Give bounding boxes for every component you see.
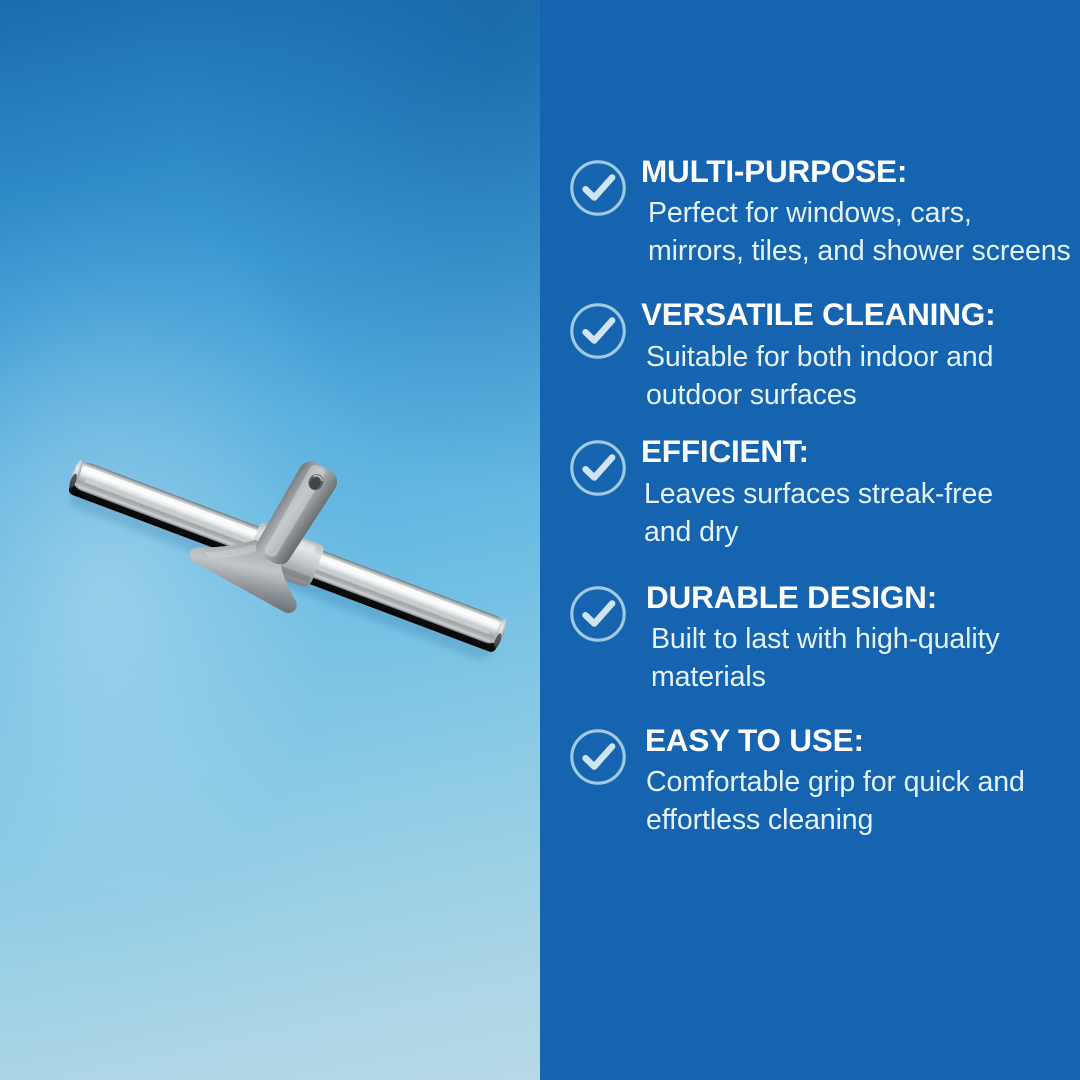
feature-text: DURABLE DESIGN: Built to last with high-… bbox=[641, 578, 1080, 697]
feature-title: EASY TO USE: bbox=[645, 721, 1080, 759]
feature-item: MULTI-PURPOSE: Perfect for windows, cars… bbox=[540, 152, 1080, 271]
feature-item: DURABLE DESIGN: Built to last with high-… bbox=[540, 578, 1080, 697]
feature-title: DURABLE DESIGN: bbox=[646, 578, 1080, 616]
feature-text: VERSATILE CLEANING: Suitable for both in… bbox=[641, 295, 1080, 414]
feature-title: MULTI-PURPOSE: bbox=[641, 152, 1080, 190]
feature-description: Suitable for both indoor and outdoor sur… bbox=[646, 339, 1080, 415]
check-circle-icon bbox=[569, 439, 627, 497]
squeegee-product-image bbox=[55, 437, 515, 687]
product-image-panel bbox=[0, 0, 540, 1080]
feature-text: EASY TO USE: Comfortable grip for quick … bbox=[641, 721, 1080, 840]
feature-item: EFFICIENT: Leaves surfaces streak-free a… bbox=[540, 432, 1080, 551]
feature-title: VERSATILE CLEANING: bbox=[641, 295, 1080, 333]
infographic-stage: MULTI-PURPOSE: Perfect for windows, cars… bbox=[0, 0, 1080, 1080]
feature-title: EFFICIENT: bbox=[641, 432, 1080, 470]
feature-text: EFFICIENT: Leaves surfaces streak-free a… bbox=[641, 432, 1080, 551]
feature-description: Built to last with high-quality material… bbox=[651, 621, 1080, 697]
check-circle-icon bbox=[569, 159, 627, 217]
feature-description: Perfect for windows, cars, mirrors, tile… bbox=[648, 195, 1080, 271]
feature-text: MULTI-PURPOSE: Perfect for windows, cars… bbox=[641, 152, 1080, 271]
feature-description: Leaves surfaces streak-free and dry bbox=[644, 476, 1080, 552]
feature-list: MULTI-PURPOSE: Perfect for windows, cars… bbox=[540, 152, 1080, 840]
check-circle-icon bbox=[569, 302, 627, 360]
feature-item: VERSATILE CLEANING: Suitable for both in… bbox=[540, 295, 1080, 414]
check-circle-icon bbox=[569, 728, 627, 786]
check-circle-icon bbox=[569, 585, 627, 643]
feature-item: EASY TO USE: Comfortable grip for quick … bbox=[540, 721, 1080, 840]
features-panel: MULTI-PURPOSE: Perfect for windows, cars… bbox=[540, 0, 1080, 1080]
feature-description: Comfortable grip for quick and effortles… bbox=[646, 764, 1080, 840]
